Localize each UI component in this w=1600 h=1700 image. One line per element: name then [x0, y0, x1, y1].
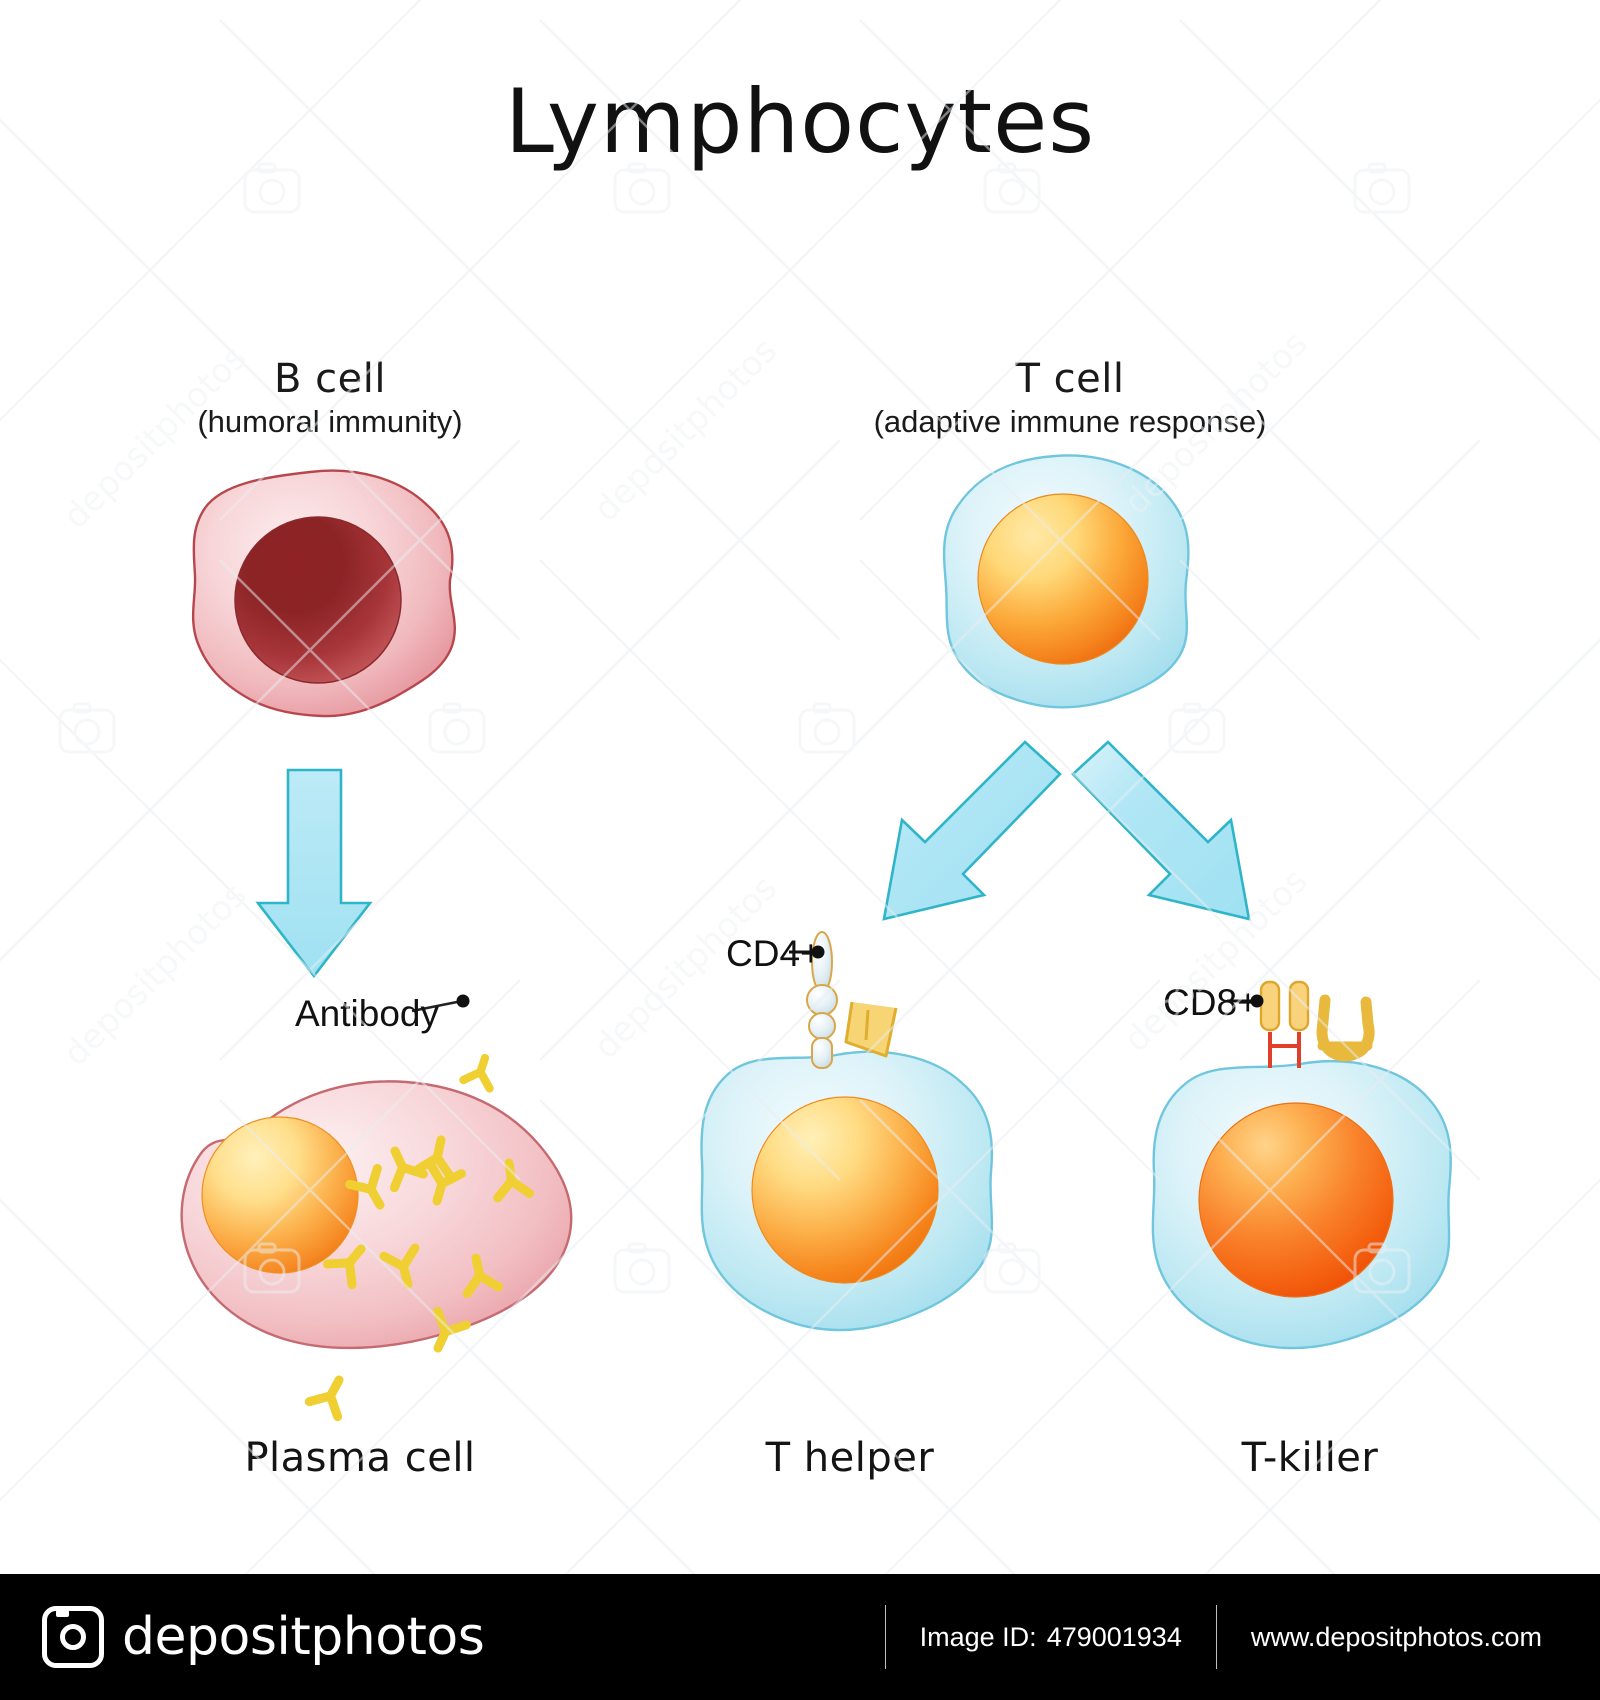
t-cell-heading: T cell (adaptive immune response): [830, 358, 1310, 440]
t-helper-illustration: [701, 932, 991, 1330]
t-cell-illustration: [944, 455, 1188, 707]
t-cell-receptor-helper: [846, 1002, 896, 1056]
image-id-value: 479001934: [1047, 1622, 1182, 1653]
arrow-t-to-thelper[interactable]: [884, 742, 1060, 919]
cd4-label: CD4+: [726, 933, 822, 975]
arrow-t-to-tkiller[interactable]: [1073, 742, 1249, 919]
brand-name: depositphotos: [122, 1607, 484, 1667]
t-cell-title: T cell: [830, 358, 1310, 400]
cd8-label: CD8+: [1163, 982, 1259, 1024]
b-cell-title: B cell: [120, 358, 540, 400]
b-cell-heading: B cell (humoral immunity): [120, 358, 540, 440]
footer-bar: depositphotos Image ID: 479001934 www.de…: [0, 1574, 1600, 1700]
plasma-cell-caption: Plasma cell: [110, 1435, 610, 1481]
footer-divider: [1216, 1605, 1217, 1669]
image-id-block: Image ID: 479001934: [886, 1605, 1216, 1669]
website-url[interactable]: www.depositphotos.com: [1217, 1605, 1576, 1669]
image-id-label: Image ID:: [920, 1622, 1037, 1653]
cd8-receptor: [1261, 982, 1308, 1068]
diagram-canvas: Lymphocytes B cell (humoral immunity) T …: [0, 0, 1600, 1700]
brand-lockup[interactable]: depositphotos: [42, 1606, 484, 1668]
page-title: Lymphocytes: [0, 78, 1600, 166]
camera-icon: [42, 1606, 104, 1668]
website-text: www.depositphotos.com: [1251, 1622, 1542, 1653]
t-killer-illustration: [1153, 982, 1451, 1348]
b-cell-subtitle: (humoral immunity): [120, 404, 540, 440]
b-cell-illustration: [193, 471, 455, 717]
arrow-b-to-plasma[interactable]: [258, 770, 370, 976]
t-cell-subtitle: (adaptive immune response): [830, 404, 1310, 440]
t-cell-receptor-killer: [1322, 1000, 1369, 1056]
plasma-cell-illustration: [182, 1081, 572, 1348]
footer-divider: [885, 1605, 886, 1669]
antibody-label: Antibody: [295, 993, 439, 1035]
t-helper-caption: T helper: [650, 1435, 1050, 1481]
footer-meta: Image ID: 479001934 www.depositphotos.co…: [885, 1574, 1600, 1700]
t-killer-caption: T-killer: [1110, 1435, 1510, 1481]
